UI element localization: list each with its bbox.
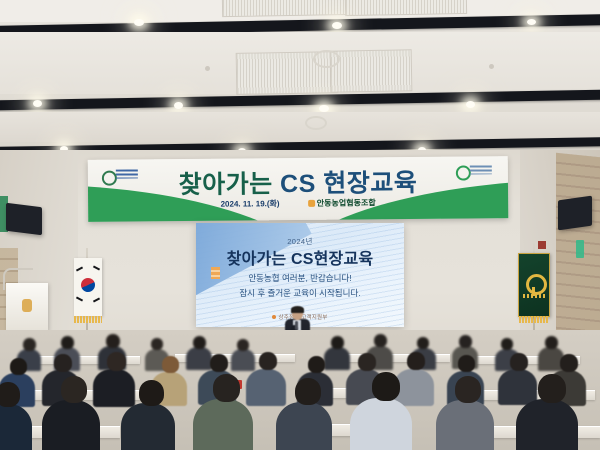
wall-mounted-speaker (558, 196, 592, 231)
podium-emblem (22, 299, 32, 312)
ceiling-spotlight (33, 100, 42, 107)
ceiling-spotlight (134, 19, 144, 26)
slide-body: 안동농협 여러분, 반갑습니다! 잠시 후 즐거운 교육이 시작됩니다. (196, 271, 404, 301)
nh-organization-flag (518, 253, 550, 317)
air-vent-grille (330, 49, 413, 92)
ceiling-diffuser-ring (305, 116, 327, 130)
nh-logo-icon (308, 200, 315, 207)
korean-national-flag (74, 258, 102, 316)
air-vent-grille (345, 0, 467, 16)
ceiling-spotlight (332, 22, 342, 29)
wall-sign (537, 240, 547, 250)
banner-date: 2024. 11. 19.(화) (221, 199, 280, 209)
sprinkler-head (489, 64, 494, 69)
seated-audience (0, 330, 600, 450)
taeguk-symbol (79, 276, 98, 295)
slide-line-1: 안동농협 여러분, 반갑습니다! (196, 271, 404, 286)
lecture-hall-photo: 찾아가는 CS 현장교육 2024. 11. 19.(화) 안동농업협동조합 2… (0, 0, 600, 450)
slide-line-2: 잠시 후 즐거운 교육이 시작됩니다. (196, 286, 404, 301)
banner-title-blue: CS 현장교육 (280, 169, 417, 198)
banner-organization: 안동농업협동조합 (308, 198, 376, 208)
slide-title: 찾아가는 CS현장교육 (196, 245, 404, 269)
ceiling-diffuser-ring (313, 50, 340, 68)
presenter-hair (291, 306, 304, 313)
air-vent-grille (222, 0, 354, 17)
nh-emblem-icon (526, 274, 547, 295)
ceiling (0, 0, 600, 160)
nh-flag-text (523, 294, 545, 298)
event-banner: 찾아가는 CS 현장교육 2024. 11. 19.(화) 안동농업협동조합 (88, 156, 509, 222)
ceiling-spotlight (527, 19, 536, 25)
wall-mounted-speaker (6, 203, 42, 235)
ceiling-spotlight (466, 101, 475, 108)
ceiling-spotlight (174, 102, 183, 109)
banner-title-green: 찾아가는 (179, 170, 273, 199)
footer-dot-icon (272, 315, 276, 319)
podium (6, 283, 48, 331)
flag-fringe (519, 316, 549, 323)
microphone-icon (295, 321, 298, 330)
ceiling-spotlight (319, 105, 329, 112)
emergency-exit-sign (576, 240, 584, 258)
flag-fringe (74, 316, 102, 323)
sprinkler-head (205, 66, 210, 71)
